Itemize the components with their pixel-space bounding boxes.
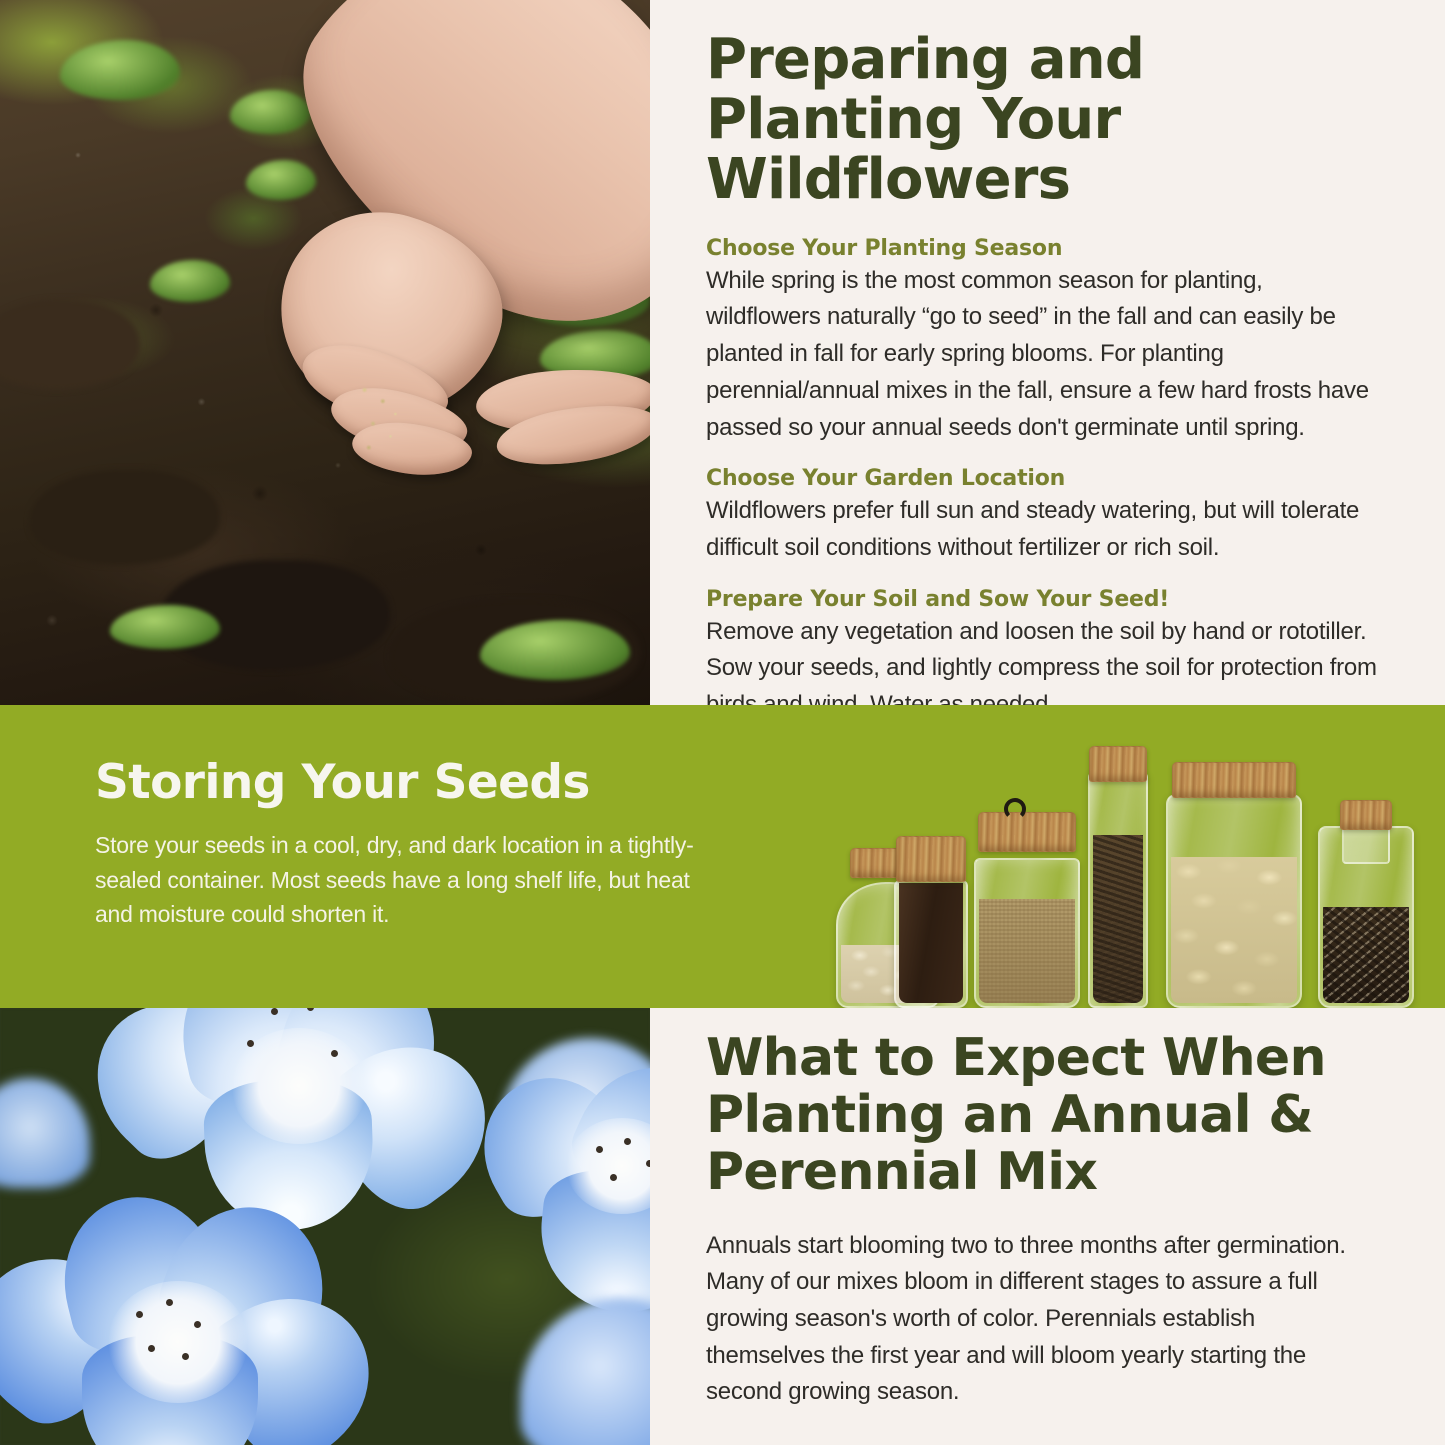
flower-bloom-bottom bbox=[0, 1203, 390, 1445]
soil-clod bbox=[30, 470, 220, 565]
what-to-expect-text-column: What to Expect When Planting an Annual &… bbox=[650, 1008, 1445, 1445]
block-prepare-soil: Prepare Your Soil and Sow Your Seed! Rem… bbox=[706, 587, 1379, 724]
jar-tall-brown-seeds bbox=[1088, 746, 1148, 1008]
hand-sowing-seeds-in-soil-photo bbox=[0, 0, 650, 705]
baby-blue-eyes-flowers-photo bbox=[0, 1008, 650, 1445]
cork-lid bbox=[1340, 800, 1392, 830]
jar-glass bbox=[974, 858, 1080, 1008]
preparing-text-column: Preparing and Planting Your Wildflowers … bbox=[650, 0, 1445, 705]
jar-sunflower-seeds bbox=[1318, 800, 1414, 1008]
flower-anther bbox=[331, 1050, 338, 1057]
glass-jars-of-seeds-photo bbox=[818, 738, 1418, 1008]
jar-pumpkin-seeds bbox=[1166, 762, 1302, 1008]
flower-anther bbox=[646, 1160, 650, 1167]
jar-glass bbox=[1166, 794, 1302, 1008]
infographic-page: Preparing and Planting Your Wildflowers … bbox=[0, 0, 1445, 1445]
body-garden-location: Wildflowers prefer full sun and steady w… bbox=[706, 493, 1379, 566]
flower-anther bbox=[624, 1138, 631, 1145]
cork-lid bbox=[978, 812, 1076, 852]
flower-anther bbox=[182, 1353, 189, 1360]
section-preparing-and-planting: Preparing and Planting Your Wildflowers … bbox=[0, 0, 1445, 705]
flower-anther bbox=[271, 1008, 278, 1015]
flower-bloom-right bbox=[470, 1068, 650, 1318]
flower-anther bbox=[596, 1146, 603, 1153]
jar-glass bbox=[894, 880, 968, 1008]
storing-heading: Storing Your Seeds bbox=[95, 755, 725, 810]
cork-lid bbox=[1172, 762, 1296, 798]
falling-seeds bbox=[352, 382, 422, 462]
jar-fine-tan-seeds bbox=[974, 812, 1080, 1008]
section-what-to-expect: What to Expect When Planting an Annual &… bbox=[0, 1008, 1445, 1445]
jar-contents bbox=[1093, 835, 1143, 1003]
jar-contents bbox=[1323, 907, 1409, 1003]
jar-wire-loop bbox=[1004, 798, 1026, 820]
subheading-prepare-soil: Prepare Your Soil and Sow Your Seed! bbox=[706, 587, 1379, 612]
flower-center bbox=[108, 1281, 248, 1403]
page-title: Preparing and Planting Your Wildflowers bbox=[706, 30, 1379, 210]
flower-anther bbox=[166, 1299, 173, 1306]
jar-contents bbox=[899, 883, 963, 1003]
flower-anther bbox=[610, 1174, 617, 1181]
subheading-planting-season: Choose Your Planting Season bbox=[706, 236, 1379, 261]
body-planting-season: While spring is the most common season f… bbox=[706, 263, 1379, 447]
subheading-garden-location: Choose Your Garden Location bbox=[706, 466, 1379, 491]
jar-glass bbox=[1088, 772, 1148, 1008]
jar-contents bbox=[979, 899, 1075, 1003]
block-planting-season: Choose Your Planting Season While spring… bbox=[706, 236, 1379, 447]
flower-anther bbox=[136, 1311, 143, 1318]
what-to-expect-body: Annuals start blooming two to three mont… bbox=[706, 1228, 1379, 1412]
what-to-expect-heading: What to Expect When Planting an Annual &… bbox=[706, 1030, 1379, 1202]
seedling-sprout bbox=[246, 160, 316, 200]
flower-anther bbox=[148, 1345, 155, 1352]
cork-lid bbox=[896, 836, 966, 882]
jar-contents bbox=[1171, 857, 1297, 1003]
jar-dark-seeds bbox=[894, 836, 968, 1008]
section-storing-your-seeds: Storing Your Seeds Store your seeds in a… bbox=[0, 705, 1445, 1008]
flower-anther bbox=[247, 1040, 254, 1047]
block-garden-location: Choose Your Garden Location Wildflowers … bbox=[706, 466, 1379, 566]
storing-body: Store your seeds in a cool, dry, and dar… bbox=[95, 828, 725, 932]
flower-anther bbox=[194, 1321, 201, 1328]
cork-lid bbox=[1089, 746, 1147, 782]
storing-text-column: Storing Your Seeds Store your seeds in a… bbox=[95, 755, 725, 932]
